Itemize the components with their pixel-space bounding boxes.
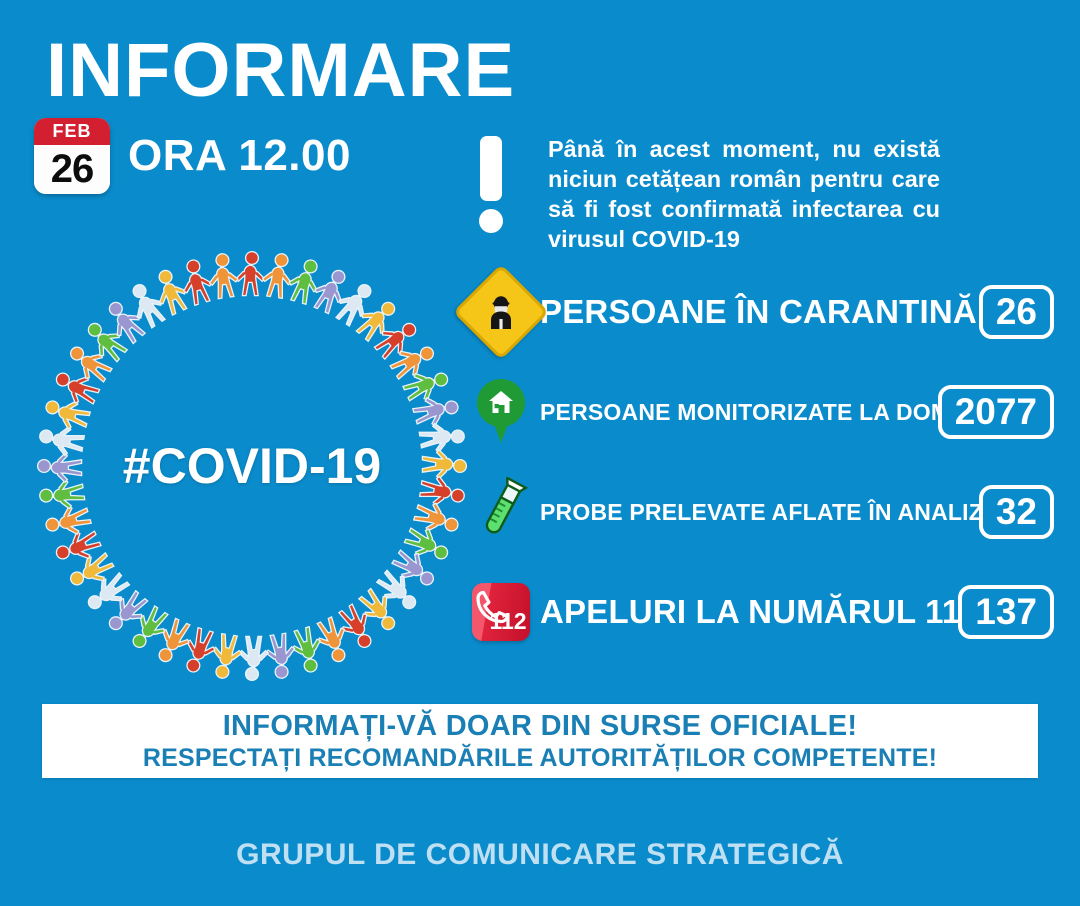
- home-location-pin-icon: [462, 373, 540, 451]
- quarantine-hazard-sign-icon: [462, 273, 540, 351]
- official-sources-banner: INFORMAȚI-VĂ DOAR DIN SURSE OFICIALE! RE…: [42, 704, 1038, 778]
- banner-line-1: INFORMAȚI-VĂ DOAR DIN SURSE OFICIALE!: [223, 709, 858, 743]
- people-ring-graphic: #COVID-19: [22, 236, 482, 696]
- stat-label: APELURI LA NUMĂRUL 112: [540, 593, 958, 631]
- banner-line-2: RESPECTAȚI RECOMANDĂRILE AUTORITĂȚILOR C…: [143, 743, 937, 773]
- stat-value: 2077: [938, 385, 1054, 439]
- stat-value: 32: [979, 485, 1054, 539]
- stat-value: 137: [958, 585, 1054, 639]
- notice-text: Până în acest moment, nu există niciun c…: [548, 134, 940, 254]
- hashtag-label: #COVID-19: [22, 236, 482, 696]
- date-time-row: FEB 26 ORA 12.00: [34, 118, 351, 194]
- time-label: ORA 12.00: [128, 131, 351, 181]
- stat-label: PERSOANE ÎN CARANTINĂ: [540, 293, 979, 331]
- stat-value: 26: [979, 285, 1054, 339]
- emergency-phone-112-icon: 112: [462, 573, 540, 651]
- notice-block: Până în acest moment, nu există niciun c…: [474, 134, 940, 254]
- calendar-month-label: FEB: [34, 118, 110, 145]
- stat-row-home-monitored: PERSOANE MONITORIZATE LA DOMICILIU 2077: [462, 362, 1054, 462]
- stat-row-quarantine: PERSOANE ÎN CARANTINĂ 26: [462, 262, 1054, 362]
- exclamation-mark-icon: [474, 136, 510, 236]
- stat-row-calls-112: 112 APELURI LA NUMĂRUL 112 137: [462, 562, 1054, 662]
- footer-attribution: GRUPUL DE COMUNICARE STRATEGICĂ: [0, 838, 1080, 872]
- infographic-poster: INFORMARE FEB 26 ORA 12.00 Până în acest…: [0, 0, 1080, 906]
- phone-icon-number: 112: [475, 610, 526, 641]
- stat-label: PROBE PRELEVATE AFLATE ÎN ANALIZĂ: [540, 499, 979, 526]
- calendar-day-label: 26: [34, 145, 110, 194]
- statistics-list: PERSOANE ÎN CARANTINĂ 26 PERSOANE MONITO…: [462, 262, 1054, 662]
- test-tube-icon: [462, 473, 540, 551]
- stat-row-samples-analysis: PROBE PRELEVATE AFLATE ÎN ANALIZĂ 32: [462, 462, 1054, 562]
- exclamation-bar: [480, 136, 502, 201]
- exclamation-dot: [479, 209, 503, 233]
- page-title: INFORMARE: [46, 33, 515, 109]
- stat-label: PERSOANE MONITORIZATE LA DOMICILIU: [540, 399, 938, 426]
- calendar-icon: FEB 26: [34, 118, 110, 194]
